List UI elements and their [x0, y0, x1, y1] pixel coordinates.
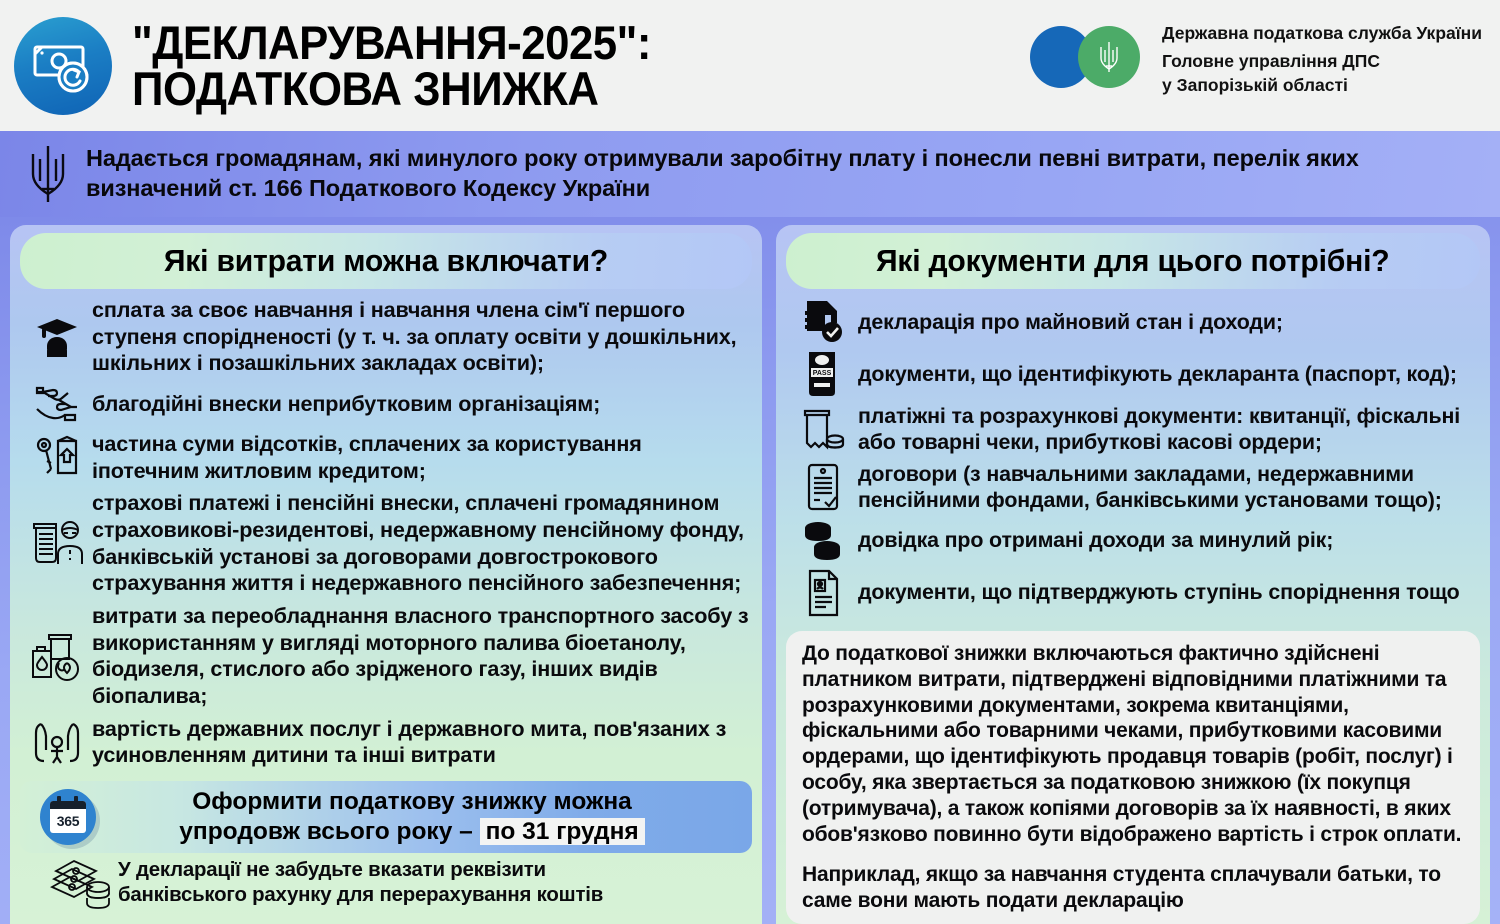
calendar-365-icon: 365 — [40, 789, 96, 845]
info-box: До податкової знижки включаються фактичн… — [786, 631, 1480, 924]
agency-text: Державна податкова служба України Головн… — [1162, 22, 1482, 97]
expenses-panel: Які витрати можна включати? сплата за св… — [10, 225, 762, 924]
agency-line-2: Головне управління ДПС — [1162, 50, 1482, 73]
deadline-highlight: по 31 грудня — [480, 818, 645, 845]
page-title-line1: "ДЕКЛАРУВАННЯ-2025": — [132, 20, 651, 66]
svg-text:PASS: PASS — [813, 370, 832, 377]
contract-icon — [792, 462, 854, 512]
page-title-line2: ПОДАТКОВА ЗНИЖКА — [132, 66, 651, 112]
cash-stack-icon — [44, 857, 118, 909]
list-item-text: документи, що ідентифікують декларанта (… — [854, 361, 1457, 387]
agency-line-3: у Запорізькій області — [1162, 74, 1482, 97]
coins-stack-icon — [792, 519, 854, 563]
info-box-paragraph-1: До податкової знижки включаються фактичн… — [802, 641, 1466, 848]
agency-block: Державна податкова служба України Головн… — [1030, 22, 1482, 97]
hands-child-icon — [26, 718, 88, 766]
expenses-heading-label: Які витрати можна включати? — [164, 243, 608, 279]
list-item: благодійні внески неприбутковим організа… — [26, 383, 750, 425]
bank-details-note: У декларації не забудьте вказати реквізи… — [44, 857, 752, 909]
trident-icon — [26, 143, 70, 205]
list-item: довідка про отримані доходи за минулий р… — [792, 519, 1478, 563]
savings-jar-pensioner-icon — [26, 516, 88, 572]
info-box-paragraph-2: Наприклад, якщо за навчання студента спл… — [802, 862, 1466, 914]
list-item-text: вартість державних послуг і державного м… — [88, 716, 750, 769]
agency-line-1: Державна податкова служба України — [1162, 22, 1482, 45]
list-item-text: витрати за переобладнання власного транс… — [88, 603, 750, 710]
list-item-text: договори (з навчальними закладами, недер… — [854, 461, 1478, 514]
list-item: документи, що підтверджують ступінь спор… — [792, 568, 1478, 618]
page-header: "ДЕКЛАРУВАННЯ-2025": ПОДАТКОВА ЗНИЖКА Де… — [0, 0, 1500, 131]
list-item-text: частина суми відсотків, сплачених за кор… — [88, 431, 750, 484]
bank-note-line-1: У декларації не забудьте вказати реквізи… — [118, 858, 603, 882]
list-item-text: страхові платежі і пенсійні внески, спла… — [88, 490, 750, 597]
deadline-line-1: Оформити податкову знижку можна — [112, 787, 712, 816]
bank-note-line-2: банківського рахунку для перерахування к… — [118, 883, 603, 907]
bank-details-note-text: У декларації не забудьте вказати реквізи… — [118, 858, 603, 907]
subtitle-band: Надається громадянам, які минулого року … — [0, 131, 1500, 217]
list-item-text: платіжні та розрахункові документи: квит… — [854, 403, 1478, 456]
documents-heading: Які документи для цього потрібні? — [786, 233, 1480, 289]
list-item: страхові платежі і пенсійні внески, спла… — [26, 490, 750, 597]
passport-icon: PASS — [792, 350, 854, 398]
deadline-callout-text: Оформити податкову знижку можна упродовж… — [112, 787, 752, 846]
id-document-icon — [792, 568, 854, 618]
list-item: витрати за переобладнання власного транс… — [26, 603, 750, 710]
list-item: договори (з навчальними закладами, недер… — [792, 461, 1478, 514]
infographic-page: "ДЕКЛАРУВАННЯ-2025": ПОДАТКОВА ЗНИЖКА Де… — [0, 0, 1500, 920]
documents-panel: Які документи для цього потрібні? — [776, 225, 1490, 924]
deadline-callout: 365 Оформити податкову знижку можна упро… — [20, 781, 752, 853]
list-item-text: декларація про майновий стан і доходи; — [854, 309, 1283, 335]
house-keys-icon — [26, 435, 88, 481]
list-item-text: довідка про отримані доходи за минулий р… — [854, 527, 1333, 553]
deadline-prefix: упродовж всього року – — [179, 818, 479, 845]
documents-heading-label: Які документи для цього потрібні? — [876, 243, 1389, 279]
trident-icon — [1096, 40, 1122, 74]
list-item: PASS документи, що ідентифікують деклара… — [792, 350, 1478, 398]
receipt-coins-icon — [792, 405, 854, 453]
list-item: декларація про майновий стан і доходи; — [792, 299, 1478, 345]
documents-list: декларація про майновий стан і доходи; P… — [776, 289, 1490, 623]
biofuel-canister-icon — [26, 629, 88, 683]
charity-hands-icon — [26, 383, 88, 425]
logo-circle-green — [1078, 26, 1140, 88]
agency-logo — [1030, 26, 1152, 88]
list-item: частина суми відсотків, сплачених за кор… — [26, 431, 750, 484]
graduate-icon — [26, 311, 88, 363]
page-title: "ДЕКЛАРУВАННЯ-2025": ПОДАТКОВА ЗНИЖКА — [132, 20, 690, 111]
expenses-list: сплата за своє навчання і навчання члена… — [10, 289, 762, 775]
document-check-icon — [792, 299, 854, 345]
list-item: платіжні та розрахункові документи: квит… — [792, 403, 1478, 456]
list-item: сплата за своє навчання і навчання члена… — [26, 297, 750, 377]
banknote-refund-icon — [14, 17, 112, 115]
subtitle-text: Надається громадянам, які минулого року … — [86, 144, 1500, 203]
list-item-text: благодійні внески неприбутковим організа… — [88, 391, 600, 418]
expenses-heading: Які витрати можна включати? — [20, 233, 752, 289]
body-area: Які витрати можна включати? сплата за св… — [0, 217, 1500, 924]
list-item-text: документи, що підтверджують ступінь спор… — [854, 579, 1460, 605]
calendar-badge-label: 365 — [57, 813, 79, 829]
list-item: вартість державних послуг і державного м… — [26, 716, 750, 769]
deadline-line-2: упродовж всього року – по 31 грудня — [112, 817, 712, 846]
list-item-text: сплата за своє навчання і навчання члена… — [88, 297, 750, 377]
